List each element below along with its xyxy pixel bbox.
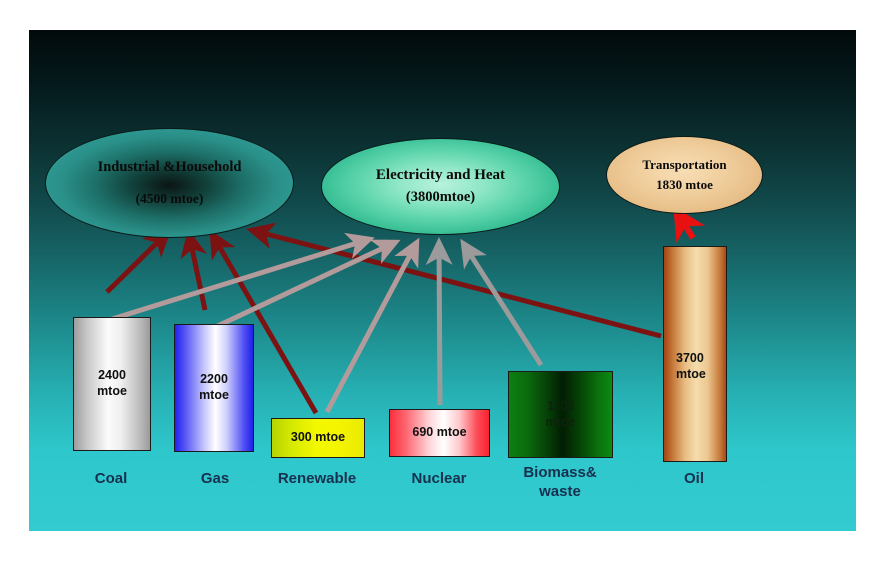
diagram-canvas: Industrial &Household (4500 mtoe) Electr…: [29, 30, 856, 531]
node-transportation[interactable]: Transportation 1830 mtoe: [606, 136, 763, 214]
label-oil: Oil: [637, 470, 751, 489]
flow-gas-to-electricity: [209, 242, 396, 330]
flow-oil-to-transportation: [677, 212, 693, 238]
bar-oil[interactable]: 3700mtoe: [663, 246, 727, 462]
flow-nuclear-to-electricity: [439, 242, 440, 405]
bar-biomass-waste-value: 1100mtoe: [546, 399, 576, 430]
node-transportation-value: 1830 mtoe: [656, 178, 713, 192]
bar-coal-value: 2400mtoe: [97, 368, 127, 399]
bar-biomass-waste[interactable]: 1100mtoe: [508, 371, 613, 458]
bar-gas[interactable]: 2200mtoe: [174, 324, 254, 452]
node-electricity-heat[interactable]: Electricity and Heat (3800mtoe): [321, 138, 560, 235]
flow-gas-to-industrial: [189, 234, 205, 310]
node-industrial-household-title: Industrial &Household: [98, 160, 242, 176]
bar-nuclear[interactable]: 690 mtoe: [389, 409, 490, 457]
label-renewable: Renewable: [247, 470, 387, 489]
diagram-page: Industrial &Household (4500 mtoe) Electr…: [0, 0, 882, 562]
node-electricity-heat-value: (3800mtoe): [406, 190, 475, 206]
bar-coal[interactable]: 2400mtoe: [73, 317, 151, 451]
label-biomass-waste: Biomass&waste: [487, 464, 633, 502]
node-transportation-title: Transportation: [642, 158, 726, 172]
bar-gas-value: 2200mtoe: [199, 372, 229, 403]
bar-renewable[interactable]: 300 mtoe: [271, 418, 365, 458]
bar-nuclear-value: 690 mtoe: [412, 425, 466, 441]
flow-coal-to-industrial: [107, 232, 168, 292]
node-industrial-household[interactable]: Industrial &Household (4500 mtoe): [45, 128, 294, 238]
bar-oil-value: 3700mtoe: [676, 351, 706, 382]
label-coal: Coal: [55, 470, 167, 489]
node-industrial-household-value: (4500 mtoe): [136, 192, 204, 207]
bar-renewable-value: 300 mtoe: [291, 430, 345, 446]
node-electricity-heat-title: Electricity and Heat: [376, 167, 505, 184]
